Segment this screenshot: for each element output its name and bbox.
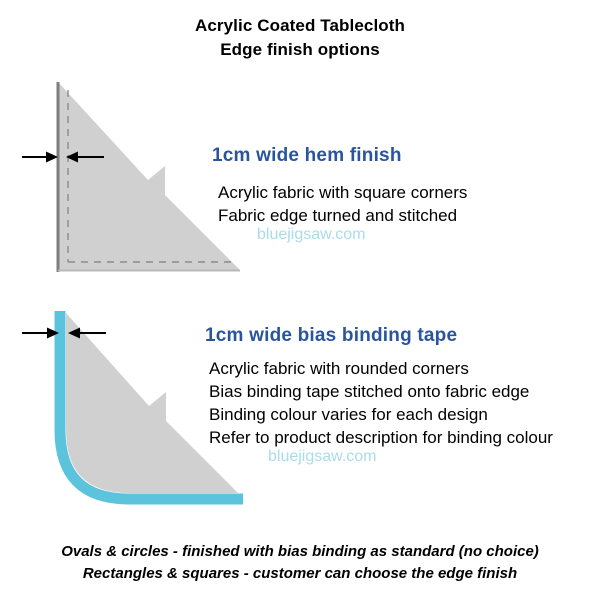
page-title-line-1: Acrylic Coated Tablecloth	[0, 14, 600, 38]
bias-line-1: Acrylic fabric with rounded corners	[209, 357, 553, 380]
section-body-bias-binding: Acrylic fabric with rounded corners Bias…	[209, 357, 553, 449]
section-body-hem-finish: Acrylic fabric with square corners Fabri…	[218, 181, 467, 227]
hem-measure-arrow-left	[22, 152, 58, 163]
page-title: Acrylic Coated Tablecloth Edge finish op…	[0, 14, 600, 62]
section-heading-hem-finish: 1cm wide hem finish	[212, 145, 402, 167]
bias-line-3: Binding colour varies for each design	[209, 403, 553, 426]
footer-line-1: Ovals & circles - finished with bias bin…	[0, 541, 600, 563]
fabric-body-square	[58, 82, 240, 270]
hem-line-1: Acrylic fabric with square corners	[218, 181, 467, 204]
section-heading-bias-binding: 1cm wide bias binding tape	[205, 325, 457, 347]
bias-line-2: Bias binding tape stitched onto fabric e…	[209, 380, 553, 403]
bias-line-4: Refer to product description for binding…	[209, 426, 553, 449]
diagram-canvas	[0, 0, 600, 600]
footer-line-2: Rectangles & squares - customer can choo…	[0, 563, 600, 585]
bias-measure-arrow-left	[22, 328, 59, 339]
page-title-line-2: Edge finish options	[0, 38, 600, 62]
watermark-bluejigsaw-top: bluejigsaw.com	[257, 226, 366, 244]
footer-note: Ovals & circles - finished with bias bin…	[0, 541, 600, 585]
square-corner-fabric-diagram	[22, 82, 240, 272]
hem-line-2: Fabric edge turned and stitched	[218, 204, 467, 227]
watermark-bluejigsaw-bottom: bluejigsaw.com	[268, 448, 377, 466]
